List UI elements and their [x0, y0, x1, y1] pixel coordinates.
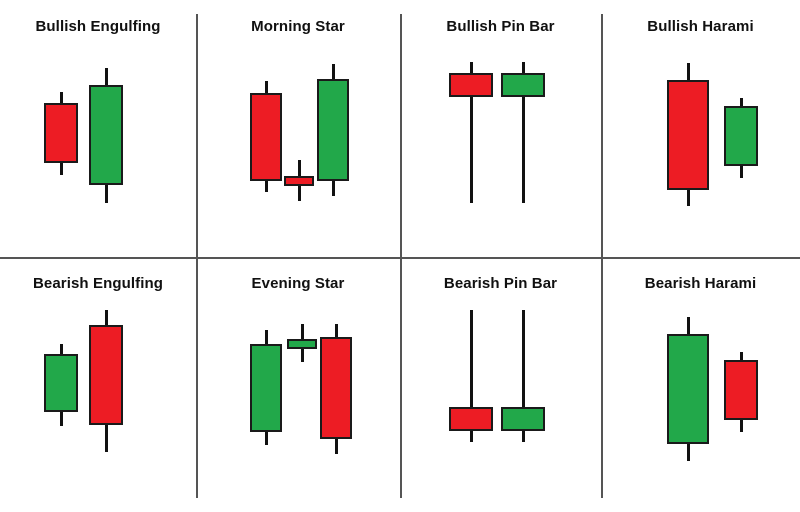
candle-body-bearish	[284, 176, 314, 186]
candle-body-bullish	[287, 339, 317, 349]
candle-body-bullish	[501, 407, 545, 431]
candle-body-bullish	[667, 334, 709, 444]
candle-body-bullish	[44, 354, 78, 412]
candle-body-bearish	[89, 325, 123, 425]
candle-body-bearish	[250, 93, 282, 181]
pattern-panel-morning-star: Morning Star	[196, 0, 400, 257]
pattern-panel-bullish-pin-bar: Bullish Pin Bar	[400, 0, 601, 257]
pattern-label-evening-star: Evening Star	[196, 275, 400, 292]
candle-body-bearish	[667, 80, 709, 190]
pattern-label-bullish-engulfing: Bullish Engulfing	[0, 18, 196, 35]
candle-body-bullish	[250, 344, 282, 432]
pattern-label-morning-star: Morning Star	[196, 18, 400, 35]
candle-body-bullish	[724, 106, 758, 166]
candle-body-bullish	[501, 73, 545, 97]
pattern-label-bullish-pin-bar: Bullish Pin Bar	[400, 18, 601, 35]
pattern-label-bearish-engulfing: Bearish Engulfing	[0, 275, 196, 292]
candle-body-bullish	[317, 79, 349, 181]
candle-body-bearish	[44, 103, 78, 163]
candle-body-bearish	[449, 73, 493, 97]
pattern-label-bullish-harami: Bullish Harami	[601, 18, 800, 35]
pattern-panel-bearish-pin-bar: Bearish Pin Bar	[400, 257, 601, 512]
pattern-panel-evening-star: Evening Star	[196, 257, 400, 512]
pattern-label-bearish-pin-bar: Bearish Pin Bar	[400, 275, 601, 292]
candle-body-bearish	[320, 337, 352, 439]
candle-body-bearish	[724, 360, 758, 420]
candle-body-bullish	[89, 85, 123, 185]
candlestick-pattern-board: Bullish EngulfingMorning StarBullish Pin…	[0, 0, 800, 512]
pattern-label-bearish-harami: Bearish Harami	[601, 275, 800, 292]
candle-body-bearish	[449, 407, 493, 431]
